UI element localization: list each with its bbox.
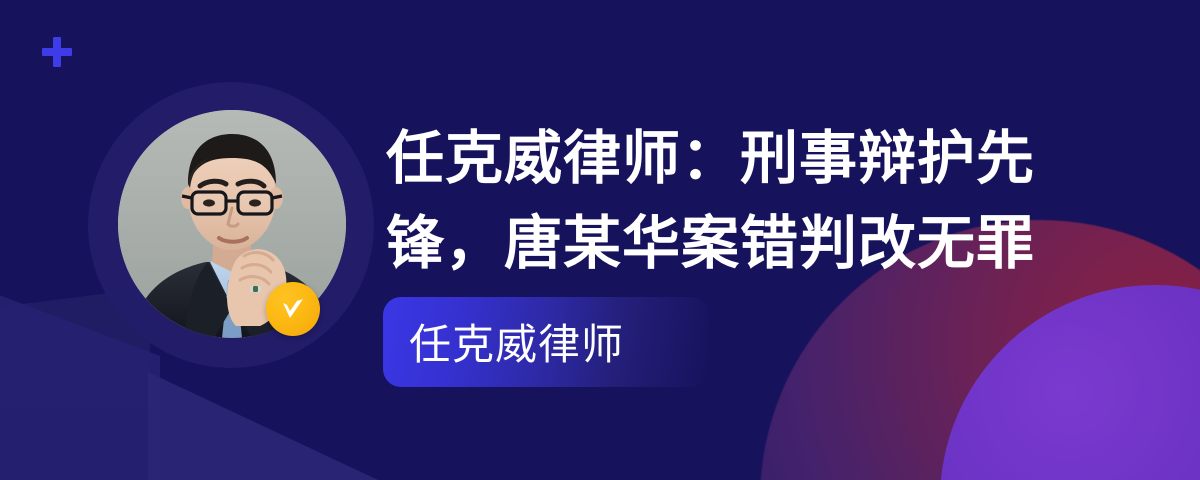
angular-shape-triangle: [148, 372, 378, 480]
verified-check-icon: [266, 282, 320, 336]
author-name-badge[interactable]: 任克威律师: [383, 297, 709, 387]
headline-line-1: 任克威律师：刑事辩护先: [386, 116, 1096, 201]
profile-banner: 任克威律师：刑事辩护先 锋，唐某华案错判改无罪 传奇 任克威律师: [0, 0, 1200, 480]
author-name-label: 任克威律师: [383, 324, 624, 366]
plus-icon: [42, 37, 72, 67]
avatar[interactable]: [118, 110, 346, 338]
banner-content: 任克威律师：刑事辩护先 锋，唐某华案错判改无罪 传奇 任克威律师: [386, 116, 1096, 371]
headline-line-2: 锋，唐某华案错判改无罪: [386, 201, 1096, 286]
